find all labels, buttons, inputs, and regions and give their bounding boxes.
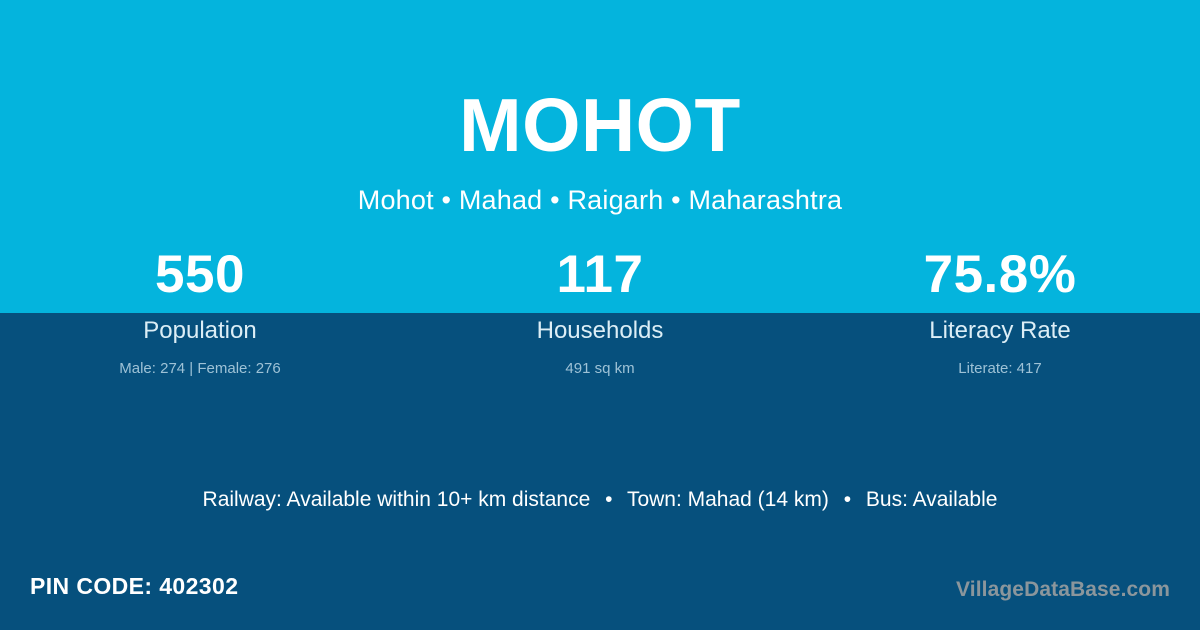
breadcrumb: Mohot • Mahad • Raigarh • Maharashtra <box>0 163 1200 215</box>
stat-population: 550 Population Male: 274 | Female: 276 <box>0 244 400 379</box>
stat-literacy-rate-label: Literacy Rate <box>800 306 1200 345</box>
stat-literacy-rate-sub: Literate: 417 <box>800 345 1200 379</box>
pin-code: PIN CODE: 402302 <box>30 572 238 600</box>
village-info-card: MOHOT Mohot • Mahad • Raigarh • Maharash… <box>0 0 1200 630</box>
info-town: Town: Mahad (14 km) <box>627 488 829 511</box>
site-watermark: VillageDataBase.com <box>956 577 1170 603</box>
card-header: MOHOT Mohot • Mahad • Raigarh • Maharash… <box>0 0 1200 215</box>
page-title: MOHOT <box>0 0 1200 163</box>
stat-literacy-rate-value: 75.8% <box>800 244 1200 306</box>
stat-population-label: Population <box>0 306 400 345</box>
stat-households-sub: 491 sq km <box>400 345 800 379</box>
stat-population-sub: Male: 274 | Female: 276 <box>0 345 400 379</box>
stat-households-label: Households <box>400 306 800 345</box>
stat-literacy-rate: 75.8% Literacy Rate Literate: 417 <box>800 244 1200 379</box>
info-bus: Bus: Available <box>866 488 998 511</box>
info-railway: Railway: Available within 10+ km distanc… <box>203 488 591 511</box>
info-separator-2: • <box>835 488 860 511</box>
info-separator-1: • <box>596 488 621 511</box>
connectivity-info-line: Railway: Available within 10+ km distanc… <box>0 486 1200 514</box>
stat-households-value: 117 <box>400 244 800 306</box>
stat-population-value: 550 <box>0 244 400 306</box>
stats-row: 550 Population Male: 274 | Female: 276 1… <box>0 244 1200 379</box>
card-footer: PIN CODE: 402302 VillageDataBase.com <box>0 558 1200 630</box>
stat-households: 117 Households 491 sq km <box>400 244 800 379</box>
